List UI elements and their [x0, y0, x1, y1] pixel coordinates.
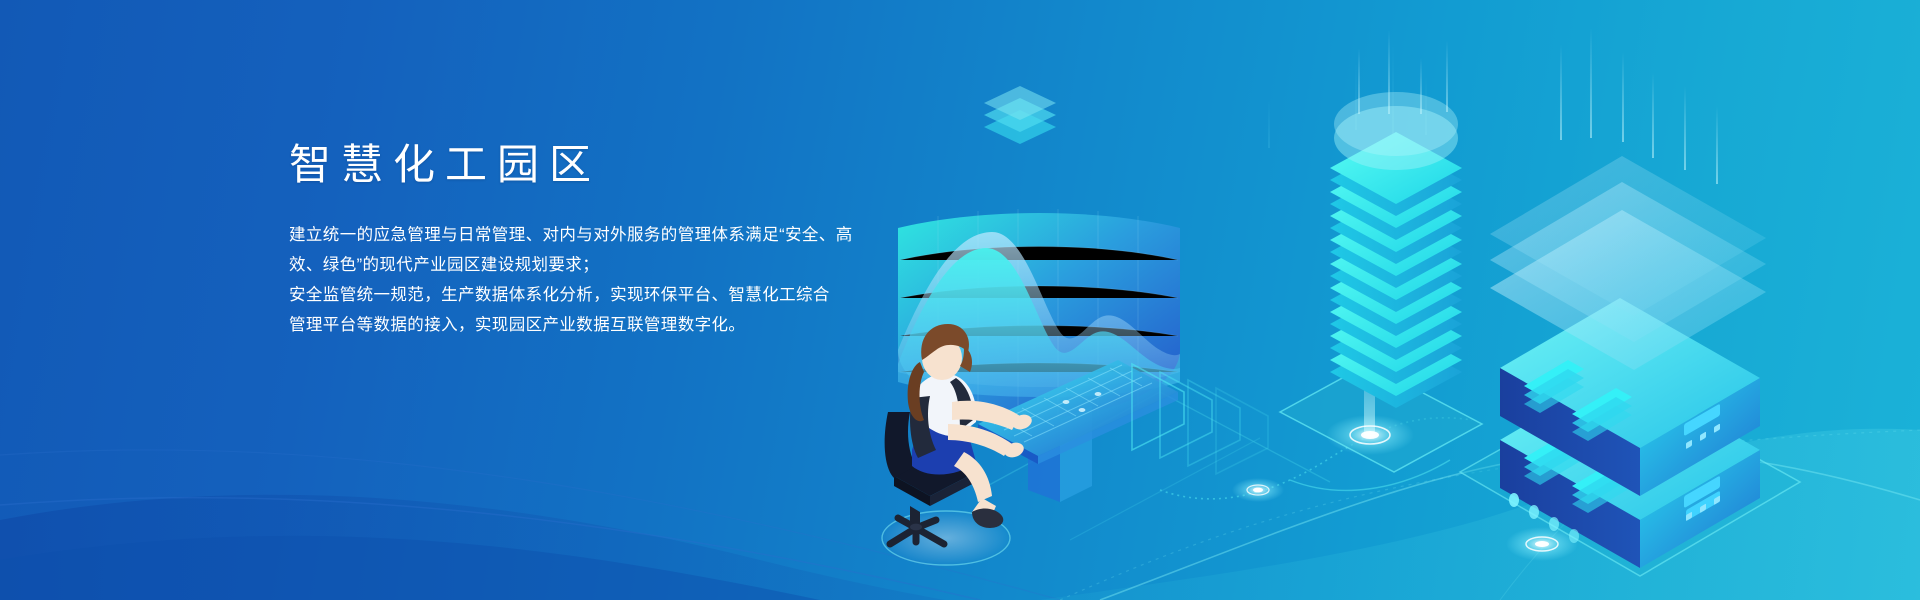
hero-banner: 智慧化工园区 建立统一的应急管理与日常管理、对内与对外服务的管理体系满足“安全、…: [0, 0, 1920, 600]
page-title: 智慧化工园区: [289, 140, 889, 190]
description-line: 建立统一的应急管理与日常管理、对内与对外服务的管理体系满足“安全、高: [289, 220, 889, 250]
hero-description: 建立统一的应急管理与日常管理、对内与对外服务的管理体系满足“安全、高 效、绿色”…: [289, 190, 889, 340]
smart-park-illustration: [860, 20, 1920, 600]
tower-disc-stack: [1330, 92, 1462, 408]
server-rack-cluster: [1232, 28, 1800, 576]
floating-layer-chip: [984, 86, 1056, 144]
stacked-cylinder-tower: [1280, 30, 1482, 472]
description-line: 管理平台等数据的接入，实现园区产业数据互联管理数字化。: [289, 310, 889, 340]
hero-text-block: 智慧化工园区 建立统一的应急管理与日常管理、对内与对外服务的管理体系满足“安全、…: [289, 140, 889, 340]
floating-translucent-panels: [1490, 156, 1766, 370]
description-line: 安全监管统一规范，生产数据体系化分析，实现环保平台、智慧化工综合: [289, 280, 889, 310]
description-line: 效、绿色”的现代产业园区建设规划要求；: [289, 250, 889, 280]
